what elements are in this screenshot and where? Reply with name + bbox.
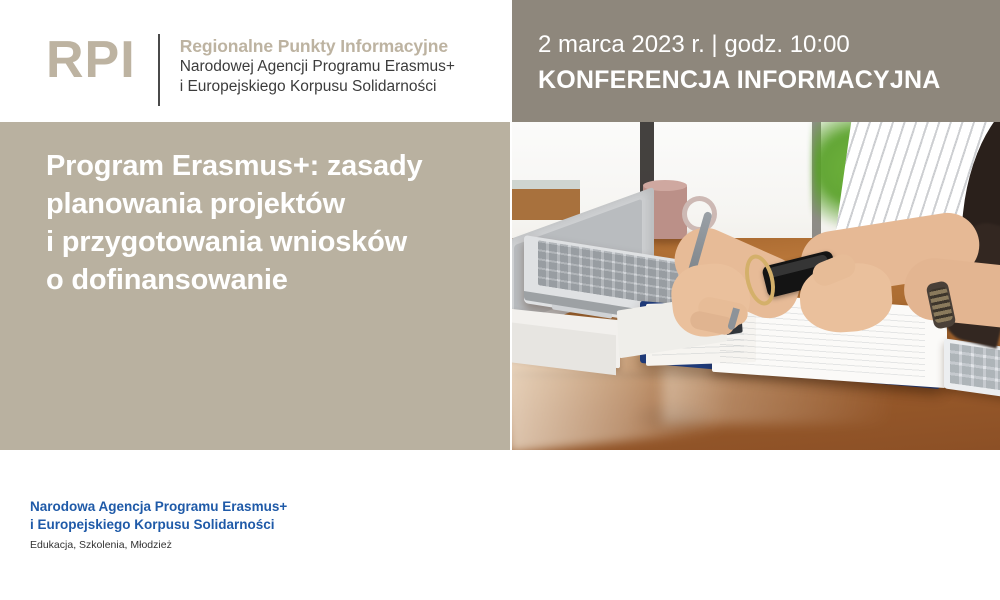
person-hair bbox=[952, 122, 1000, 328]
desk-light-glare bbox=[662, 354, 892, 424]
person-finger bbox=[696, 295, 749, 327]
laptop-base bbox=[524, 235, 714, 333]
header-logo-area: RPI Regionalne Punkty Informacyjne Narod… bbox=[0, 0, 512, 122]
laptop-lid bbox=[512, 187, 654, 337]
gold-bracelet bbox=[740, 251, 780, 308]
national-agency-line-2: i Europejskiego Korpusu Solidarności bbox=[30, 516, 287, 534]
plant-foliage-highlight bbox=[842, 146, 912, 216]
rpi-logo-line-3: i Europejskiego Korpusu Solidarności bbox=[180, 77, 455, 97]
white-flower-blur bbox=[872, 227, 932, 272]
desk-box-lid bbox=[512, 180, 580, 189]
laptop-keyboard bbox=[538, 240, 688, 309]
footer-logo-bar: Narodowa Agencja Programu Erasmus+ i Eur… bbox=[0, 450, 1000, 600]
wristwatch-band bbox=[929, 287, 954, 324]
wooden-desk bbox=[512, 238, 1000, 450]
notebook-flipped-pages bbox=[617, 294, 727, 359]
person-torso bbox=[830, 122, 1000, 296]
smartphone bbox=[761, 250, 839, 298]
person-left-arm bbox=[901, 255, 1000, 330]
headline-line-1: Program Erasmus+: zasady bbox=[46, 147, 496, 185]
rpi-logo-line-2: Narodowej Agencji Programu Erasmus+ bbox=[180, 57, 455, 77]
desk-light-glare bbox=[512, 303, 807, 450]
pen-tip bbox=[727, 307, 740, 330]
coffee-mug-handle bbox=[682, 196, 717, 232]
notebook-left-page bbox=[646, 300, 756, 366]
window-frame-post bbox=[640, 122, 654, 257]
pen bbox=[675, 211, 712, 317]
rpi-logo-line-1: Regionalne Punkty Informacyjne bbox=[180, 36, 455, 57]
coffee-mug bbox=[643, 184, 687, 239]
rpi-logo-lockup: RPI Regionalne Punkty Informacyjne Narod… bbox=[46, 34, 455, 106]
loose-paper bbox=[512, 321, 616, 375]
notebook-ruled-lines bbox=[720, 301, 925, 377]
rpi-logo-text: Regionalne Punkty Informacyjne Narodowej… bbox=[160, 34, 455, 96]
window-frame-post-secondary bbox=[812, 122, 821, 250]
desk-grain-line bbox=[512, 308, 1000, 312]
laptop-front-edge bbox=[524, 291, 714, 330]
headline-line-2: planowania projektów bbox=[46, 185, 496, 223]
wristwatch bbox=[925, 280, 956, 330]
headline-line-4: o dofinansowanie bbox=[46, 261, 496, 299]
event-date-time: 2 marca 2023 r. | godz. 10:00 bbox=[538, 31, 850, 59]
desk-wood-knot bbox=[630, 400, 716, 434]
person-hair-strand bbox=[929, 215, 1000, 348]
calculator-keys bbox=[950, 343, 1000, 393]
desk-grain-line bbox=[512, 272, 1000, 277]
desk-grain-line bbox=[512, 372, 1000, 378]
notebook-cover bbox=[640, 301, 940, 389]
person-right-arm bbox=[796, 208, 984, 299]
national-agency-line-1: Narodowa Agencja Programu Erasmus+ bbox=[30, 498, 287, 516]
event-type-title: KONFERENCJA INFORMACYJNA bbox=[538, 66, 941, 95]
coffee-mug-rim bbox=[643, 180, 687, 191]
smartphone-screen-glare bbox=[768, 254, 829, 278]
national-agency-logo: Narodowa Agencja Programu Erasmus+ i Eur… bbox=[30, 498, 287, 553]
page-title: Program Erasmus+: zasady planowania proj… bbox=[46, 147, 496, 299]
desk-box bbox=[512, 184, 580, 220]
laptop-trackpad bbox=[552, 295, 612, 319]
notebook-spine bbox=[621, 309, 742, 352]
event-banner bbox=[512, 0, 1000, 122]
notebook-ruled-lines bbox=[652, 306, 744, 355]
person-writing-hand bbox=[668, 260, 753, 340]
national-agency-tagline: Edukacja, Szkolenia, Młodzież bbox=[30, 538, 287, 553]
conference-poster: RPI Regionalne Punkty Informacyjne Narod… bbox=[0, 0, 1000, 600]
window-background bbox=[512, 122, 1000, 272]
headline-line-3: i przygotowania wniosków bbox=[46, 223, 496, 261]
loose-paper bbox=[512, 308, 620, 369]
calculator bbox=[944, 338, 1000, 399]
main-band: Program Erasmus+: zasady planowania proj… bbox=[0, 122, 1000, 450]
rpi-monogram: RPI bbox=[46, 34, 158, 86]
desk-photo: Kobieta pisząca w notatniku przy biurku … bbox=[512, 122, 1000, 450]
mug-shadow bbox=[638, 232, 698, 244]
header: RPI Regionalne Punkty Informacyjne Narod… bbox=[0, 0, 1000, 122]
laptop-screen bbox=[514, 199, 642, 324]
person-finger bbox=[689, 310, 736, 337]
person-thumb bbox=[809, 251, 859, 290]
plant-foliage bbox=[812, 122, 932, 231]
striped-shirt-pattern bbox=[830, 122, 1000, 296]
notebook-right-page bbox=[712, 292, 947, 388]
person-writing-forearm bbox=[665, 218, 809, 328]
person-phone-hand bbox=[798, 261, 895, 335]
